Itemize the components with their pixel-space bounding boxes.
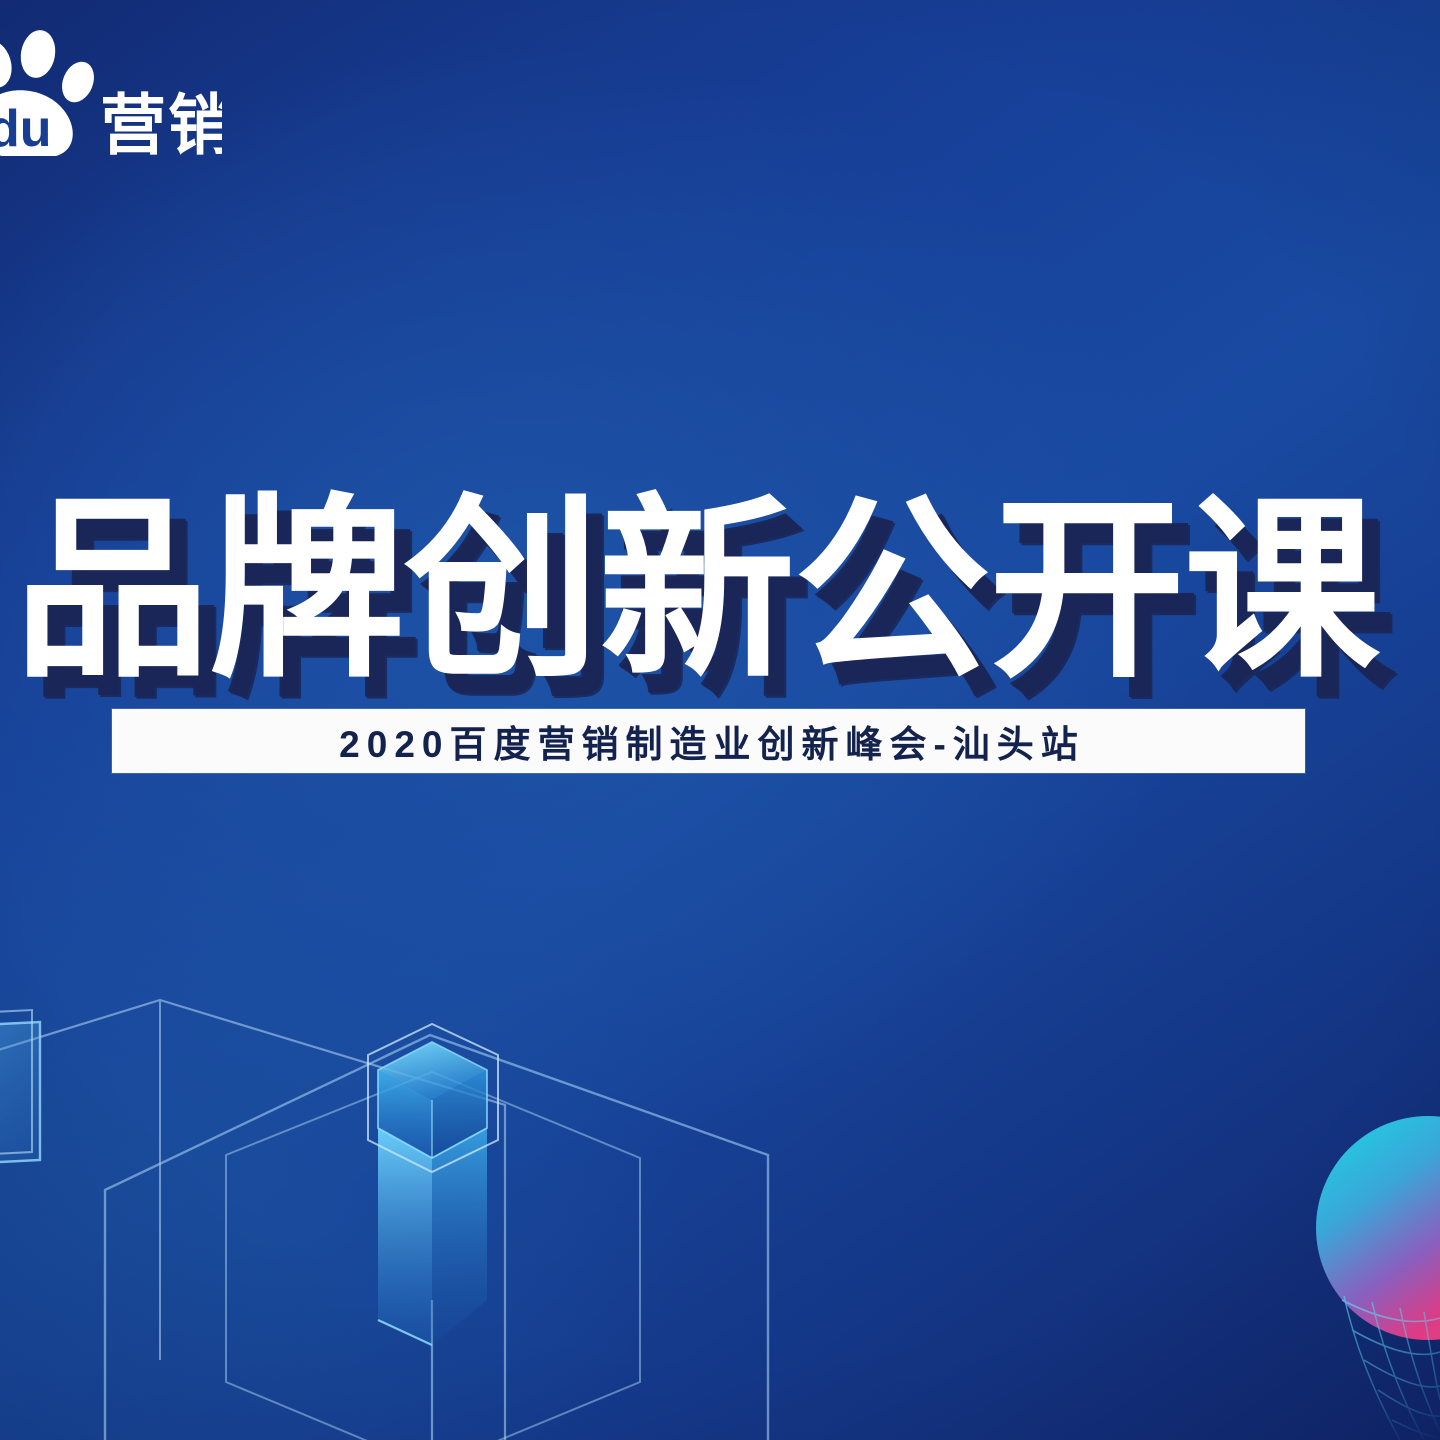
- svg-text:du: du: [0, 100, 52, 158]
- subtitle-bar: 2020百度营销制造业创新峰会-汕头站: [112, 709, 1305, 773]
- poster-canvas: du 营销 品牌创新公开课 2020百度营销制造业创新峰会-汕头站: [0, 0, 1440, 1440]
- page-title: 品牌创新公开课: [14, 496, 1426, 686]
- baidu-marketing-logo[interactable]: du 营销: [0, 24, 222, 164]
- isometric-cube-left: [0, 1010, 40, 1168]
- hexagon-wireframe-large: [0, 1000, 505, 1440]
- hexagon-wireframe-main: [105, 1035, 768, 1440]
- gradient-sphere: [1316, 1116, 1440, 1340]
- wire-mesh-grid: [1342, 1296, 1440, 1440]
- hexagon-wireframe-mid: [226, 1072, 640, 1440]
- subtitle-text: 2020百度营销制造业创新峰会-汕头站: [332, 714, 1085, 768]
- baidu-du-knockout: du: [0, 100, 52, 158]
- logo-svg: du 营销: [0, 24, 222, 164]
- logo-wordmark: 营销: [100, 88, 222, 162]
- headline-block: 品牌创新公开课: [0, 496, 1440, 706]
- isometric-cube-center: [368, 1024, 498, 1345]
